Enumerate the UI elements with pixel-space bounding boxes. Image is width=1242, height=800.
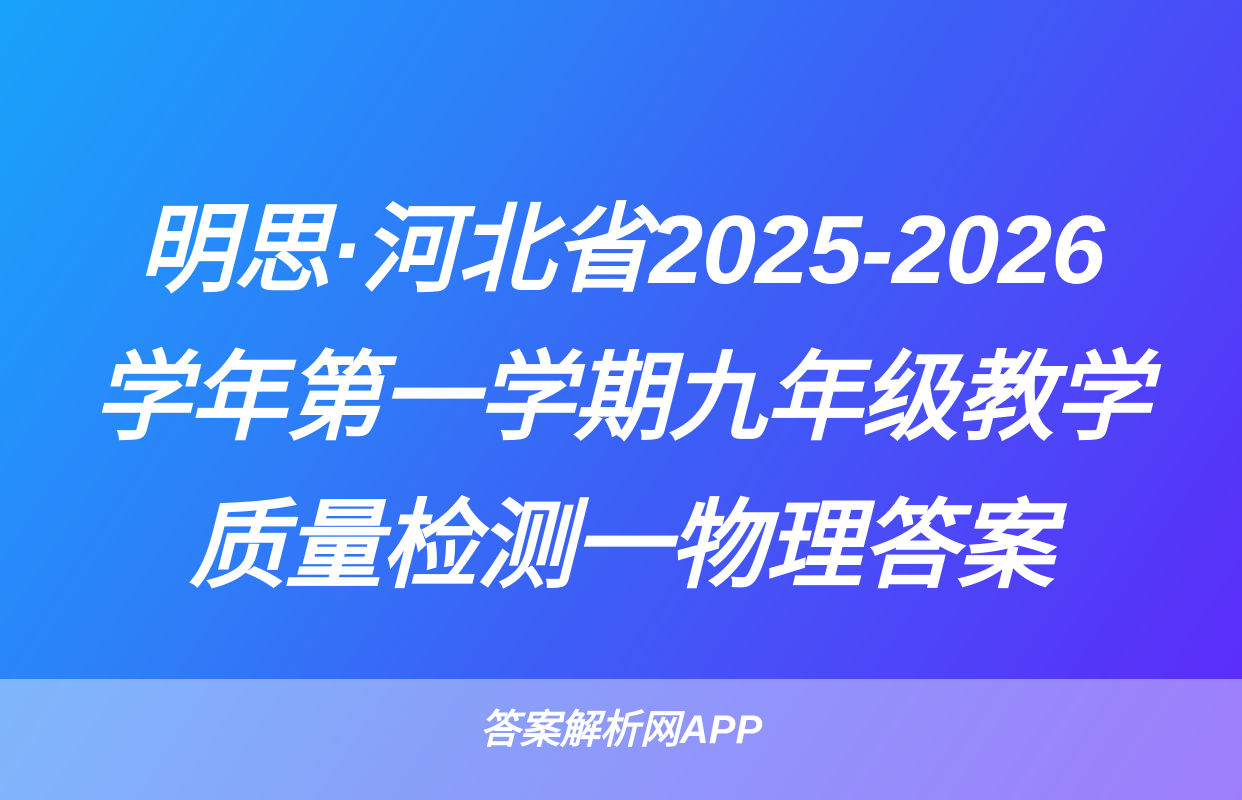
footer-watermark-label: 答案解析网APP — [480, 710, 762, 750]
title-line-2: 学年第一学期九年级教学 — [40, 324, 1202, 472]
poster-canvas: 明思·河北省2025-2026 学年第一学期九年级教学 质量检测一物理答案 答案… — [0, 0, 1242, 800]
footer-watermark: 答案解析网APP — [0, 700, 1242, 760]
page-title: 明思·河北省2025-2026 学年第一学期九年级教学 质量检测一物理答案 — [0, 176, 1242, 620]
title-line-3: 质量检测一物理答案 — [40, 472, 1202, 620]
title-line-1: 明思·河北省2025-2026 — [40, 176, 1202, 324]
